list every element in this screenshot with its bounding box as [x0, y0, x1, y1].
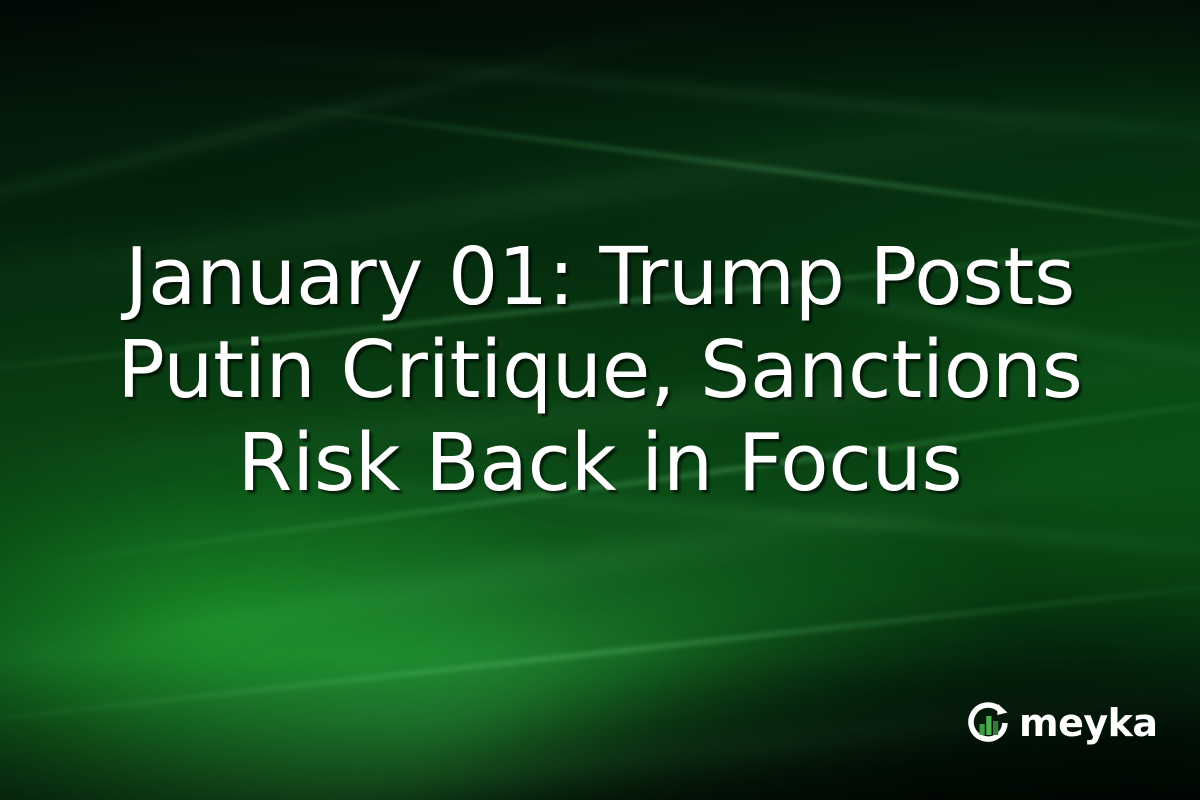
light-streak — [0, 11, 747, 247]
headline-title: January 01: Trump Posts Putin Critique, … — [0, 231, 1200, 510]
wave-shadow-1 — [149, 471, 1200, 800]
meyka-logo-icon — [963, 698, 1013, 748]
news-card: January 01: Trump Posts Putin Critique, … — [0, 0, 1200, 800]
light-streak — [122, 38, 1200, 156]
brand-name: meyka — [1019, 704, 1158, 742]
brand-lockup[interactable]: meyka — [963, 698, 1158, 748]
